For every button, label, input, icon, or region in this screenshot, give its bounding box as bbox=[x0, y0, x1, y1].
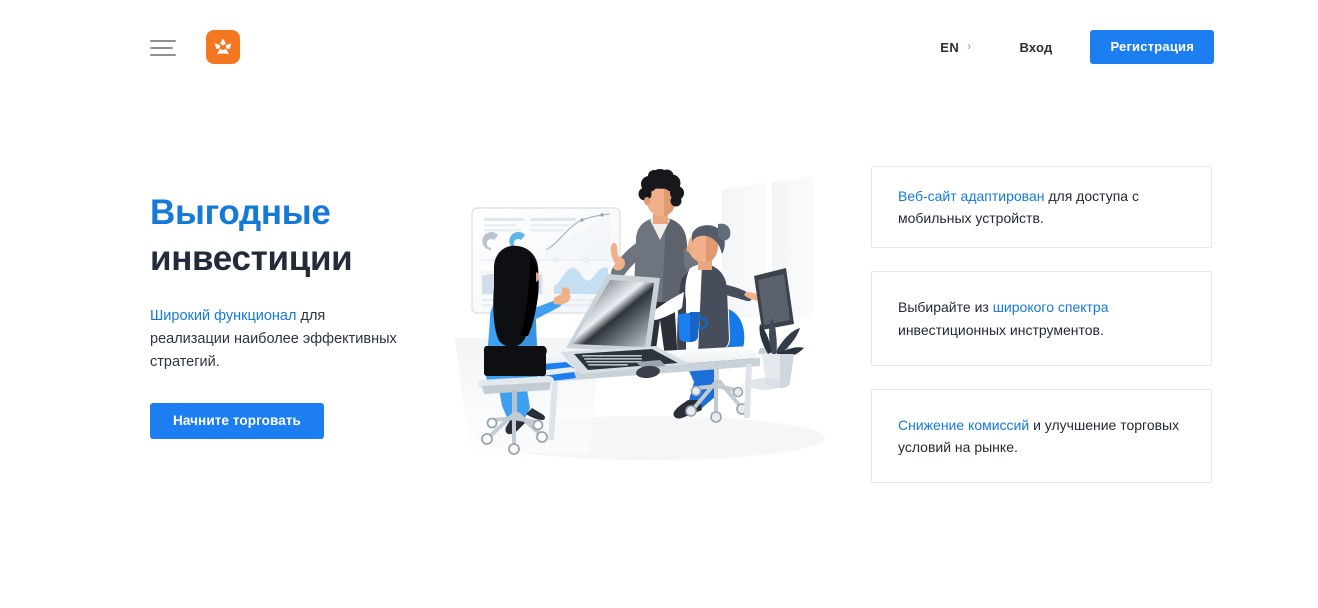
hero-subtitle-link: Широкий функционал bbox=[150, 308, 296, 324]
brand-logo[interactable] bbox=[206, 30, 240, 64]
landing-page: EN › Вход Регистрация Выгодные инвестици… bbox=[0, 0, 1318, 608]
feature-card-text: Снижение комиссий и улучшение торговых у… bbox=[898, 414, 1185, 458]
language-label: EN bbox=[940, 40, 959, 55]
feature-card-rest: инвестиционных инструментов. bbox=[898, 322, 1104, 338]
login-link[interactable]: Вход bbox=[1020, 40, 1053, 55]
hamburger-line-2 bbox=[150, 47, 173, 49]
hamburger-line-3 bbox=[150, 54, 176, 56]
feature-card-leading: Выбирайте из bbox=[898, 299, 993, 315]
feature-card-text: Веб-сайт адаптирован для доступа с мобил… bbox=[898, 185, 1185, 229]
potted-plant bbox=[749, 318, 804, 390]
feature-card-instrument-range[interactable]: Выбирайте из широкого спектра инвестицио… bbox=[871, 271, 1212, 366]
illustration-svg bbox=[450, 168, 850, 463]
feature-card-link: Веб-сайт адаптирован bbox=[898, 188, 1044, 204]
brand-snowflake-logo-icon bbox=[212, 36, 234, 58]
header-right-group: EN › Вход Регистрация bbox=[940, 30, 1214, 64]
feature-card-lower-commissions[interactable]: Снижение комиссий и улучшение торговых у… bbox=[871, 389, 1212, 483]
feature-cards: Веб-сайт адаптирован для доступа с мобил… bbox=[871, 166, 1212, 483]
page-title-line-1: Выгодные bbox=[150, 190, 450, 236]
hamburger-menu-icon[interactable] bbox=[150, 38, 176, 56]
feature-card-link: широкого спектра bbox=[993, 299, 1109, 315]
hero-text-block: Выгодные инвестиции Широкий функционал д… bbox=[150, 190, 450, 439]
language-selector[interactable]: EN › bbox=[940, 40, 971, 55]
header-left-group bbox=[150, 30, 240, 64]
hamburger-line-1 bbox=[150, 40, 176, 42]
site-header: EN › Вход Регистрация bbox=[0, 0, 1318, 94]
feature-card-mobile-access[interactable]: Веб-сайт адаптирован для доступа с мобил… bbox=[871, 166, 1212, 248]
business-team-meeting-illustration bbox=[450, 168, 850, 463]
page-title: Выгодные инвестиции bbox=[150, 190, 450, 282]
feature-card-text: Выбирайте из широкого спектра инвестицио… bbox=[898, 296, 1185, 340]
chevron-right-icon: › bbox=[967, 40, 971, 52]
hero-subtitle: Широкий функционал для реализации наибол… bbox=[150, 305, 400, 374]
signup-button[interactable]: Регистрация bbox=[1090, 30, 1214, 64]
start-trading-button[interactable]: Начните торговать bbox=[150, 403, 324, 439]
page-title-line-2: инвестиции bbox=[150, 236, 450, 282]
feature-card-link: Снижение комиссий bbox=[898, 417, 1029, 433]
